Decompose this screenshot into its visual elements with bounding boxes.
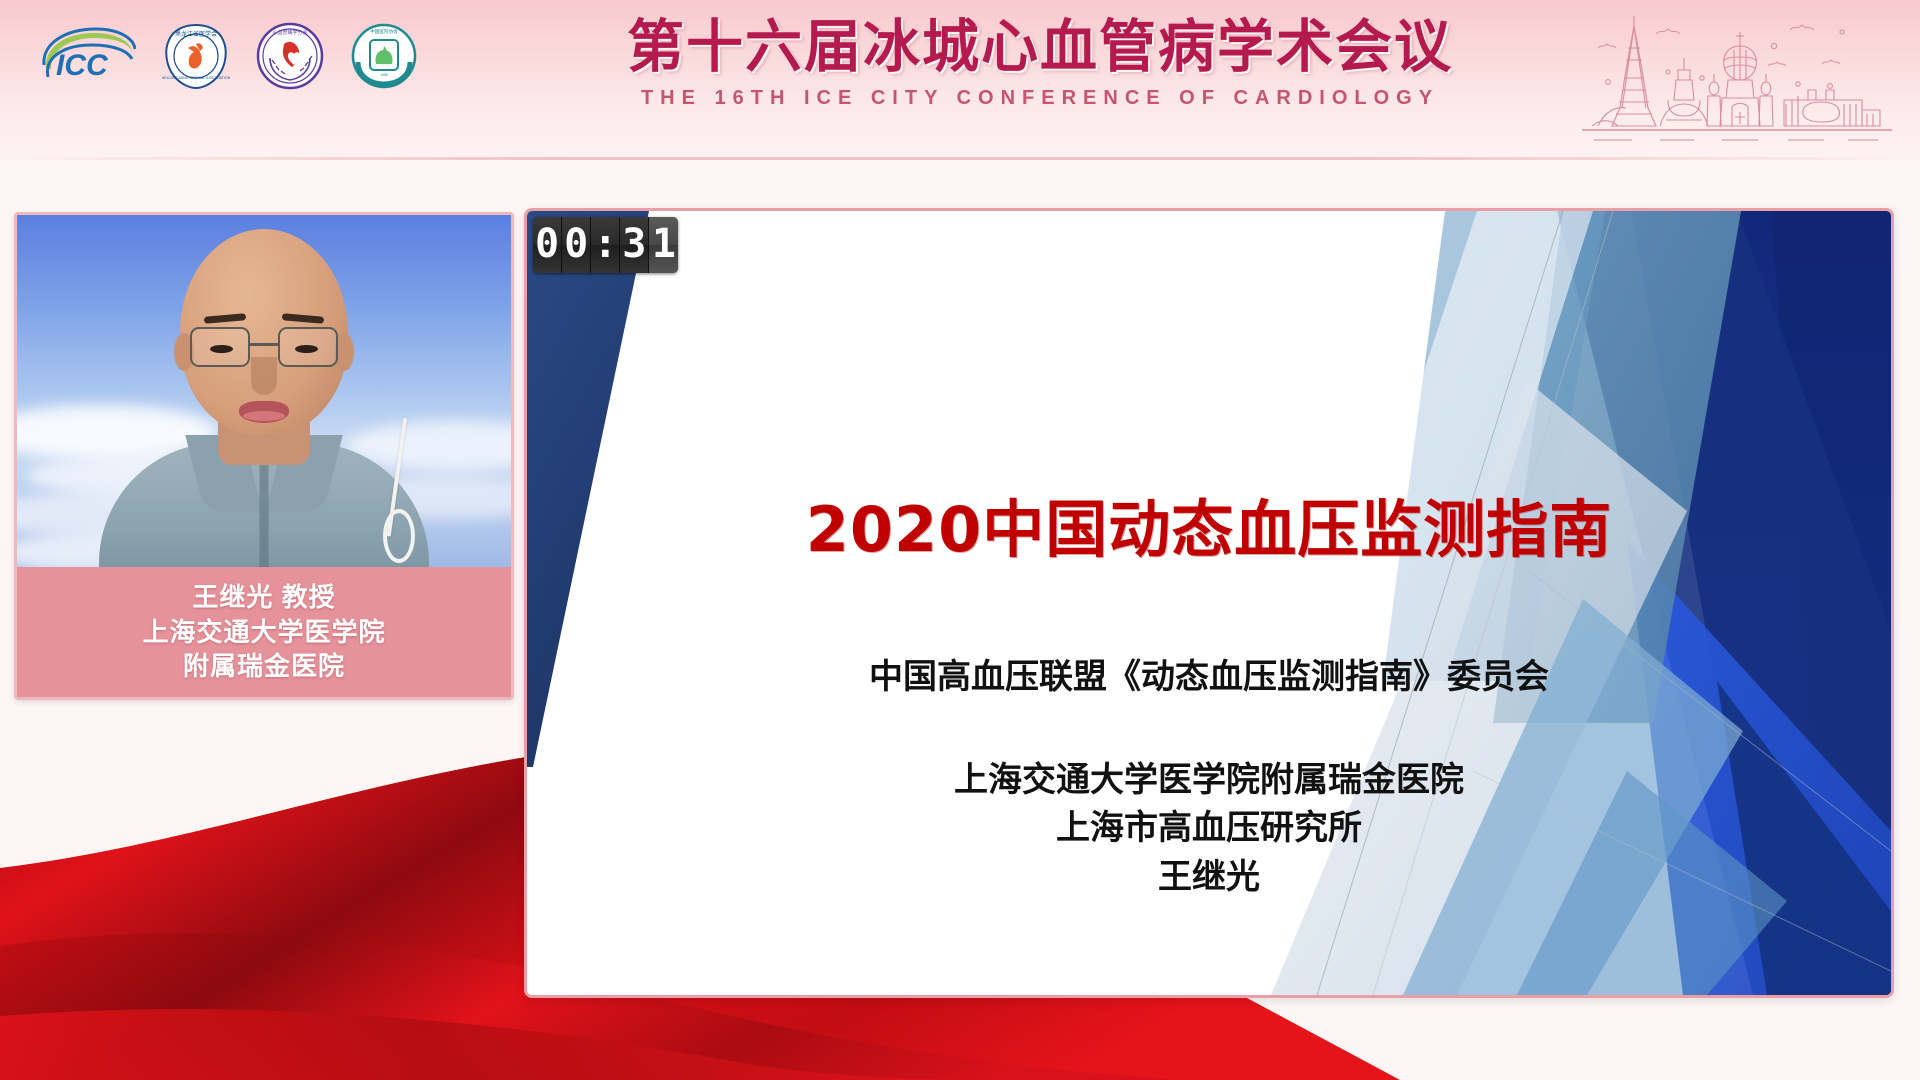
slide-organization: 中国高血压联盟《动态血压监测指南》委员会 bbox=[527, 649, 1891, 698]
speaker-figure bbox=[99, 273, 429, 573]
timer-digit-3: 3 bbox=[620, 217, 649, 273]
speaker-video-panel[interactable]: 王继光 教授 上海交通大学医学院 附属瑞金医院 bbox=[14, 212, 514, 700]
cardiology-society-logo: 心血管病学分会 bbox=[256, 22, 324, 90]
header-title-block: 第十六届冰城心血管病学术会议 THE 16TH ICE CITY CONFERE… bbox=[560, 14, 1520, 110]
slide-affiliation-block: 上海交通大学医学院附属瑞金医院 上海市高血压研究所 王继光 bbox=[527, 756, 1891, 901]
timer-digit-1: 0 bbox=[533, 217, 562, 273]
logo-row: ICC 黑龙江省医学会 HEILONGJIANG MEDICAL ASSOCIA… bbox=[40, 22, 418, 90]
slide-affiliation-line-3: 王继光 bbox=[527, 853, 1891, 901]
presentation-timer: 0 0 : 3 1 bbox=[533, 217, 678, 273]
timer-digit-2: 0 bbox=[562, 217, 591, 273]
speaker-name: 王继光 教授 bbox=[192, 581, 335, 614]
conference-title: 第十六届冰城心血管病学术会议 bbox=[560, 14, 1520, 81]
conference-subtitle: THE 16TH ICE CITY CONFERENCE OF CARDIOLO… bbox=[560, 87, 1520, 110]
svg-text:1985: 1985 bbox=[380, 73, 388, 77]
slide-canvas: 2020中国动态血压监测指南 中国高血压联盟《动态血压监测指南》委员会 上海交通… bbox=[527, 211, 1891, 995]
slide-title: 2020中国动态血压监测指南 bbox=[527, 479, 1891, 569]
hospital-association-logo: 中国医院协会 1985 bbox=[350, 22, 418, 90]
svg-text:HEILONGJIANG MEDICAL ASSOCIATI: HEILONGJIANG MEDICAL ASSOCIATION bbox=[162, 76, 230, 80]
svg-text:ICC: ICC bbox=[56, 49, 109, 82]
harbin-skyline-icon bbox=[1572, 8, 1902, 154]
timer-separator: : bbox=[591, 217, 620, 273]
conference-header-banner: ICC 黑龙江省医学会 HEILONGJIANG MEDICAL ASSOCIA… bbox=[0, 0, 1920, 160]
svg-text:心血管病学分会: 心血管病学分会 bbox=[272, 29, 307, 36]
speaker-video-feed[interactable] bbox=[17, 215, 511, 573]
presentation-slide-frame[interactable]: 2020中国动态血压监测指南 中国高血压联盟《动态血压监测指南》委员会 上海交通… bbox=[524, 208, 1894, 998]
speaker-nameplate: 王继光 教授 上海交通大学医学院 附属瑞金医院 bbox=[17, 567, 511, 697]
icc-logo: ICC bbox=[40, 25, 136, 87]
svg-text:黑龙江省医学会: 黑龙江省医学会 bbox=[175, 30, 217, 38]
timer-digit-4: 1 bbox=[649, 217, 678, 273]
page-background: ICC 黑龙江省医学会 HEILONGJIANG MEDICAL ASSOCIA… bbox=[0, 0, 1920, 1080]
slide-affiliation-line-2: 上海市高血压研究所 bbox=[527, 804, 1891, 852]
speaker-affiliation-line-2: 附属瑞金医院 bbox=[183, 650, 345, 683]
slide-affiliation-line-1: 上海交通大学医学院附属瑞金医院 bbox=[527, 756, 1891, 804]
svg-text:中国医院协会: 中国医院协会 bbox=[370, 28, 398, 35]
heilongjiang-medical-association-logo: 黑龙江省医学会 HEILONGJIANG MEDICAL ASSOCIATION bbox=[162, 22, 230, 90]
speaker-affiliation-line-1: 上海交通大学医学院 bbox=[142, 616, 385, 649]
